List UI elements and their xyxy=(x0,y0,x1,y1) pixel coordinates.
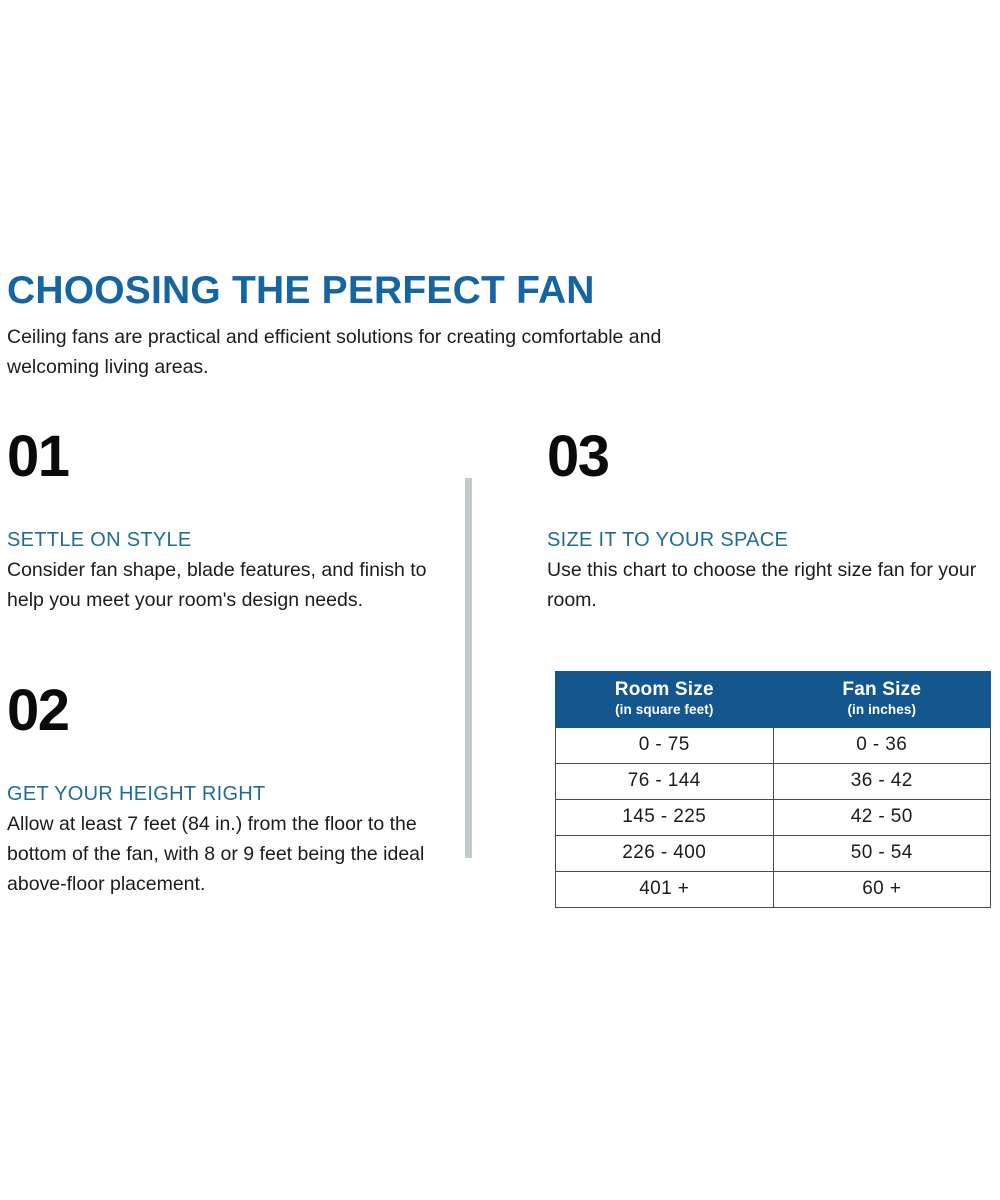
step-02: 02 GET YOUR HEIGHT RIGHT Allow at least … xyxy=(7,682,437,899)
step-02-number: 02 xyxy=(7,682,437,740)
column-header-fan-size: Fan Size (in inches) xyxy=(773,672,991,728)
fan-size-table-head: Room Size (in square feet) Fan Size (in … xyxy=(556,672,991,728)
cell-fan-size: 42 - 50 xyxy=(773,800,991,836)
cell-fan-size: 60 + xyxy=(773,872,991,908)
cell-room-size: 226 - 400 xyxy=(556,836,774,872)
fan-size-table-container: Room Size (in square feet) Fan Size (in … xyxy=(555,671,991,908)
cell-room-size: 145 - 225 xyxy=(556,800,774,836)
right-column: 03 SIZE IT TO YOUR SPACE Use this chart … xyxy=(547,428,997,615)
cell-room-size: 76 - 144 xyxy=(556,764,774,800)
step-03-number: 03 xyxy=(547,428,997,486)
step-03-heading: SIZE IT TO YOUR SPACE xyxy=(547,528,997,552)
column-header-room-size-title: Room Size xyxy=(560,679,769,701)
cell-room-size: 0 - 75 xyxy=(556,728,774,764)
page-title: CHOOSING THE PERFECT FAN xyxy=(7,268,707,314)
step-02-body: Allow at least 7 feet (84 in.) from the … xyxy=(7,809,437,899)
step-01-heading: SETTLE ON STYLE xyxy=(7,528,437,552)
header-block: CHOOSING THE PERFECT FAN Ceiling fans ar… xyxy=(7,268,707,382)
cell-fan-size: 36 - 42 xyxy=(773,764,991,800)
table-header-row: Room Size (in square feet) Fan Size (in … xyxy=(556,672,991,728)
column-header-fan-size-unit: (in inches) xyxy=(778,701,987,718)
step-01-number: 01 xyxy=(7,428,437,486)
fan-size-table-body: 0 - 75 0 - 36 76 - 144 36 - 42 145 - 225… xyxy=(556,728,991,908)
step-02-heading: GET YOUR HEIGHT RIGHT xyxy=(7,782,437,806)
cell-fan-size: 50 - 54 xyxy=(773,836,991,872)
column-header-fan-size-title: Fan Size xyxy=(778,679,987,701)
fan-size-table: Room Size (in square feet) Fan Size (in … xyxy=(555,671,991,908)
step-03: 03 SIZE IT TO YOUR SPACE Use this chart … xyxy=(547,428,997,615)
column-header-room-size: Room Size (in square feet) xyxy=(556,672,774,728)
intro-paragraph: Ceiling fans are practical and efficient… xyxy=(7,322,697,382)
table-row: 76 - 144 36 - 42 xyxy=(556,764,991,800)
cell-fan-size: 0 - 36 xyxy=(773,728,991,764)
step-01: 01 SETTLE ON STYLE Consider fan shape, b… xyxy=(7,428,437,615)
table-row: 401 + 60 + xyxy=(556,872,991,908)
table-row: 145 - 225 42 - 50 xyxy=(556,800,991,836)
step-01-body: Consider fan shape, blade features, and … xyxy=(7,555,437,615)
column-divider xyxy=(465,478,472,858)
left-column: 01 SETTLE ON STYLE Consider fan shape, b… xyxy=(7,428,437,899)
step-03-body: Use this chart to choose the right size … xyxy=(547,555,997,615)
table-row: 0 - 75 0 - 36 xyxy=(556,728,991,764)
cell-room-size: 401 + xyxy=(556,872,774,908)
table-row: 226 - 400 50 - 54 xyxy=(556,836,991,872)
column-header-room-size-unit: (in square feet) xyxy=(560,701,769,718)
